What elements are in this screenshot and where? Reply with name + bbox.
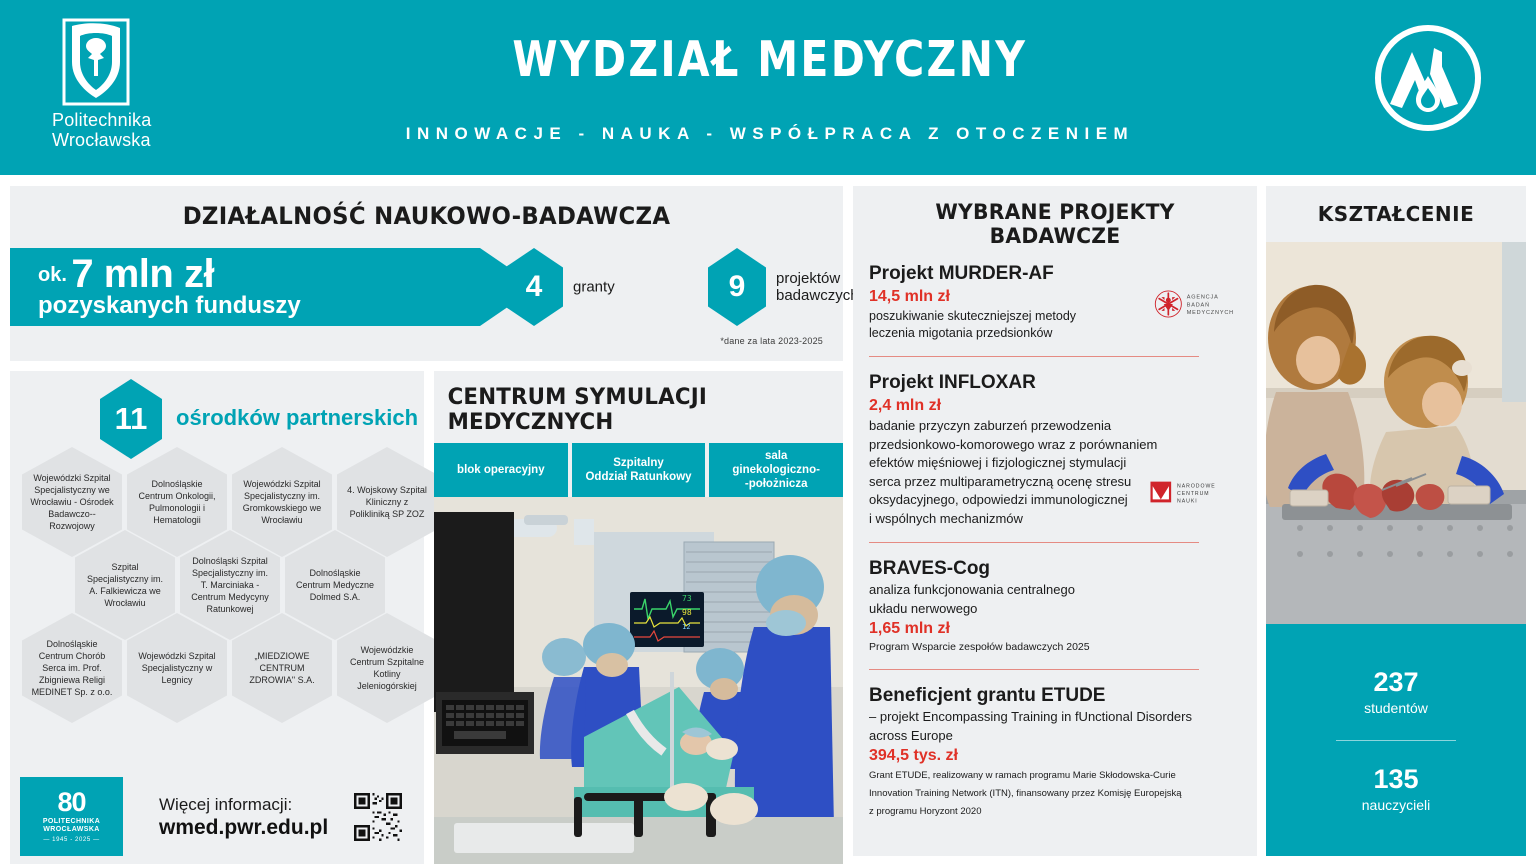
education-divider	[1336, 740, 1456, 741]
project-desc-l6: i wspólnych mechanizmów	[869, 510, 1241, 529]
project-amount: 394,5 tys. zł	[869, 745, 1241, 767]
project-note-l1: Grant ETUDE, realizowany w ramach progra…	[869, 767, 1241, 785]
project-desc-l1: badanie przyczyn zaburzeń przewodzenia	[869, 417, 1241, 436]
stat-grants-label: granty	[573, 279, 615, 296]
education-heading: KSZTAŁCENIE	[1266, 186, 1526, 242]
university-name-line1: Politechnika	[52, 110, 151, 130]
project-murder-af: Projekt MURDER-AF 14,5 mln zł poszukiwan…	[869, 262, 1241, 342]
selected-projects-panel: WYBRANE PROJEKTY BADAWCZE Projekt MURDER…	[853, 186, 1257, 856]
university-name: Politechnika Wrocławska	[52, 110, 151, 150]
students-count: 237	[1364, 666, 1428, 698]
simulation-photo: 73 98 12	[434, 497, 843, 864]
project-amount: 2,4 mln zł	[869, 395, 1241, 417]
funds-banner: ok. 7 mln zł pozyskanych funduszy	[10, 248, 537, 326]
partners-hex-grid: Wojewódzki Szpital Specjalistyczny we Wr…	[10, 447, 424, 717]
projects-column: WYBRANE PROJEKTY BADAWCZE Projekt MURDER…	[853, 186, 1257, 856]
education-stat-students: 237 studentów	[1364, 666, 1428, 718]
more-info-text: Więcej informacji: wmed.pwr.edu.pl	[159, 794, 328, 840]
education-column: KSZTAŁCENIE	[1266, 186, 1526, 856]
partners-header: 11 ośrodków partnerskich	[10, 377, 424, 447]
anniversary-university-l1: POLITECHNIKA	[43, 818, 100, 826]
sim-tab-sor[interactable]: Szpitalny Oddział Ratunkowy	[572, 443, 706, 497]
stat-projects: 9 projektów badawczych	[708, 248, 766, 326]
project-desc-l2: across Europe	[869, 727, 1241, 746]
project-separator	[869, 542, 1199, 543]
operating-room-photo-graphic: 73 98 12	[434, 497, 843, 864]
project-separator	[869, 356, 1199, 357]
svg-text:12: 12	[682, 623, 690, 631]
project-desc-l2: przedsionkowo-komorowego wraz z porównan…	[869, 436, 1241, 455]
university-name-line2: Wrocławska	[52, 130, 151, 150]
narodowe-centrum-nauki-logo: NARODOWE CENTRUM NAUKI	[1149, 475, 1245, 509]
project-infloxar: Projekt INFLOXAR 2,4 mln zł badanie przy…	[869, 371, 1241, 528]
education-panel: KSZTAŁCENIE	[1266, 186, 1526, 856]
sim-tab-sor-l1: Szpitalny	[585, 456, 691, 470]
project-separator	[869, 669, 1199, 670]
sim-tab-gin-l3: -położnicza	[732, 477, 820, 491]
project-note: Grant ETUDE, realizowany w ramach progra…	[869, 767, 1241, 821]
students-label: studentów	[1364, 698, 1428, 718]
project-description: analiza funkcjonowania centralnego układ…	[869, 581, 1241, 618]
svg-text:BADAŃ: BADAŃ	[1187, 301, 1210, 308]
left-column: DZIAŁALNOŚĆ NAUKOWO-BADAWCZA ok. 7 mln z…	[10, 186, 843, 856]
stat-projects-label: projektów badawczych	[776, 270, 859, 304]
svg-text:73: 73	[682, 594, 692, 603]
anniversary-logo: 80 POLITECHNIKA WROCŁAWSKA — 1945 - 2025…	[20, 777, 123, 856]
funds-prefix: ok.	[38, 264, 67, 286]
sim-tab-gin-l1: sala	[732, 449, 820, 463]
simulation-tabs-top: blok operacyjny Szpitalny Oddział Ratunk…	[434, 443, 843, 497]
project-desc-l1: analiza funkcjonowania centralnego	[869, 581, 1241, 600]
anniversary-years: — 1945 - 2025 —	[43, 837, 99, 843]
project-desc-l1: – projekt Encompassing Training in fUnct…	[869, 708, 1241, 727]
anniversary-university-l2: WROCŁAWSKA	[43, 826, 100, 834]
project-desc-l2: układu nerwowego	[869, 600, 1241, 619]
project-desc-l2: leczenia migotania przedsionków	[869, 325, 1241, 342]
website-url[interactable]: wmed.pwr.edu.pl	[159, 816, 328, 840]
svg-text:MEDYCZNYCH: MEDYCZNYCH	[1187, 310, 1234, 316]
project-name: Projekt INFLOXAR	[869, 371, 1241, 395]
funds-amount-line: ok. 7 mln zł	[38, 252, 214, 297]
sim-tab-sor-l2: Oddział Ratunkowy	[585, 470, 691, 484]
project-name: BRAVES-Cog	[869, 557, 1241, 581]
project-description: badanie przyczyn zaburzeń przewodzenia p…	[869, 417, 1241, 528]
infographic-page: Politechnika Wrocławska WYDZIAŁ MEDYCZNY…	[0, 0, 1536, 864]
page-title: WYDZIAŁ MEDYCZNY	[513, 31, 1028, 88]
stat-grants: 4 granty	[505, 248, 563, 326]
project-braves-cog: BRAVES-Cog analiza funkcjonowania centra…	[869, 557, 1241, 655]
stat-projects-label-l1: projektów	[776, 270, 859, 287]
more-info-label: Więcej informacji:	[159, 794, 328, 816]
qr-code-icon[interactable]	[354, 793, 402, 841]
projects-heading: WYBRANE PROJEKTY BADAWCZE	[875, 200, 1236, 248]
teachers-count: 135	[1362, 763, 1430, 795]
research-footnote: *dane za lata 2023-2025	[720, 336, 823, 346]
simulation-center-panel: CENTRUM SYMULACJI MEDYCZNYCH blok operac…	[434, 371, 843, 864]
education-photo	[1266, 242, 1526, 624]
partners-title: ośrodków partnerskich	[176, 405, 418, 431]
project-name: Projekt MURDER-AF	[869, 262, 1241, 286]
sim-tab-sala-ginekologiczna[interactable]: sala ginekologiczno- -położnicza	[709, 443, 843, 497]
svg-text:AGENCJA: AGENCJA	[1187, 295, 1219, 301]
funds-caption: pozyskanych funduszy	[38, 292, 301, 320]
project-note: Program Wsparcie zespołów badawczych 202…	[869, 640, 1241, 655]
stat-projects-value: 9	[708, 248, 766, 326]
research-stats-row: ok. 7 mln zł pozyskanych funduszy 4 gran…	[10, 248, 843, 326]
svg-text:CENTRUM: CENTRUM	[1177, 491, 1210, 497]
education-stat-teachers: 135 nauczycieli	[1362, 763, 1430, 815]
svg-text:98: 98	[682, 608, 692, 617]
funds-amount: 7 mln zł	[71, 252, 214, 296]
stat-projects-label-l2: badawczych	[776, 287, 859, 304]
project-name: Beneficjent grantu ETUDE	[869, 684, 1241, 708]
agencja-badan-medycznych-logo: AGENCJA BADAŃ MEDYCZNYCH	[1153, 284, 1245, 324]
project-note-l3: z programu Horyzont 2020	[869, 803, 1241, 821]
stat-grants-value: 4	[505, 248, 563, 326]
anniversary-number: 80	[57, 790, 85, 815]
project-description: – projekt Encompassing Training in fUnct…	[869, 708, 1241, 745]
svg-text:NAUKI: NAUKI	[1177, 498, 1198, 504]
svg-text:NARODOWE: NARODOWE	[1177, 484, 1216, 490]
students-lab-photo-graphic	[1266, 242, 1526, 624]
teachers-label: nauczycieli	[1362, 795, 1430, 815]
project-amount: 1,65 mln zł	[869, 618, 1241, 640]
sim-tab-gin-l2: ginekologiczno-	[732, 463, 820, 477]
faculty-logo	[1368, 18, 1488, 138]
faculty-emblem-icon	[1368, 18, 1488, 138]
project-etude: Beneficjent grantu ETUDE – projekt Encom…	[869, 684, 1241, 821]
project-desc-l3: efektów mięśniowej i fizjologicznej stym…	[869, 454, 1241, 473]
page-subtitle: INNOWACJE - NAUKA - WSPÓŁPRACA Z OTOCZEN…	[406, 124, 1134, 144]
header-titles: WYDZIAŁ MEDYCZNY INNOWACJE - NAUKA - WSP…	[330, 0, 1210, 175]
anniversary-university: POLITECHNIKA WROCŁAWSKA	[43, 818, 100, 834]
research-activity-panel: DZIAŁALNOŚĆ NAUKOWO-BADAWCZA ok. 7 mln z…	[10, 186, 843, 361]
pwr-crest-icon	[50, 18, 170, 110]
politechnika-wroclawska-logo: Politechnika Wrocławska	[50, 18, 170, 158]
project-note-l2: Innovation Training Network (ITN), finan…	[869, 785, 1241, 803]
more-info-panel: Więcej informacji: wmed.pwr.edu.pl	[133, 777, 424, 856]
page-header: Politechnika Wrocławska WYDZIAŁ MEDYCZNY…	[0, 0, 1536, 175]
sim-tab-blok-operacyjny[interactable]: blok operacyjny	[434, 443, 568, 497]
simulation-center-heading: CENTRUM SYMULACJI MEDYCZNYCH	[434, 371, 831, 443]
research-activity-heading: DZIAŁALNOŚĆ NAUKOWO-BADAWCZA	[31, 186, 822, 230]
education-stats: 237 studentów 135 nauczycieli	[1266, 624, 1526, 856]
